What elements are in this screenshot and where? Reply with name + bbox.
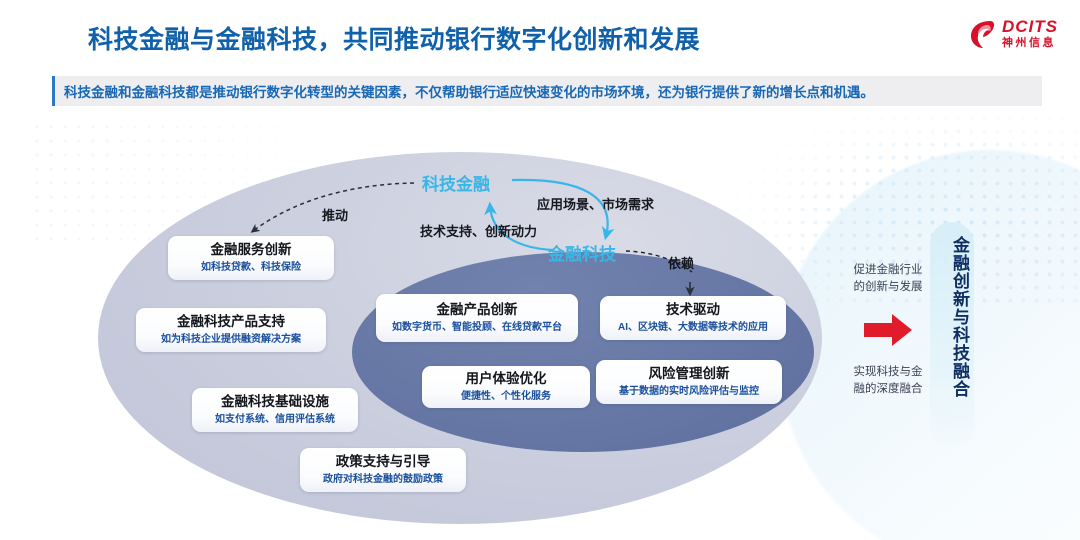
card-title: 金融科技基础设施 [221, 394, 329, 411]
card-title: 政策支持与引导 [336, 454, 431, 471]
connector-label-scene-demand: 应用场景、市场需求 [537, 194, 654, 213]
card-user-experience-optimization[interactable]: 用户体验优化 便捷性、个性化服务 [422, 366, 590, 408]
page-title: 科技金融与金融科技，共同推动银行数字化创新和发展 [88, 20, 700, 56]
right-arrow-icon [862, 312, 914, 348]
card-subtitle: AI、区块链、大数据等技术的应用 [618, 321, 768, 334]
card-title: 金融产品创新 [437, 302, 518, 319]
card-title: 技术驱动 [666, 302, 720, 319]
card-title: 风险管理创新 [649, 366, 730, 383]
card-subtitle: 如支付系统、信用评估系统 [215, 413, 335, 426]
card-subtitle: 如数字货币、智能投顾、在线贷款平台 [392, 321, 562, 334]
card-subtitle: 如科技贷款、科技保险 [201, 261, 301, 274]
card-subtitle: 政府对科技金融的鼓励政策 [323, 473, 443, 486]
card-subtitle: 便捷性、个性化服务 [461, 390, 551, 403]
card-fintech-product-support[interactable]: 金融科技产品支持 如为科技企业提供融资解决方案 [136, 308, 326, 352]
card-financial-service-innovation[interactable]: 金融服务创新 如科技贷款、科技保险 [168, 236, 334, 280]
slide-canvas: 科技金融与金融科技，共同推动银行数字化创新和发展 DCITS 神州信息 科技金融… [0, 0, 1080, 540]
card-fintech-infrastructure[interactable]: 金融科技基础设施 如支付系统、信用评估系统 [192, 388, 358, 432]
label-keji-jinrong: 科技金融 [422, 170, 490, 195]
subtitle-band: 科技金融和金融科技都是推动银行数字化转型的关键因素，不仅帮助银行适应快速变化的市… [52, 76, 1042, 106]
card-policy-support[interactable]: 政策支持与引导 政府对科技金融的鼓励政策 [300, 448, 466, 492]
label-jinrong-keji: 金融科技 [548, 240, 616, 265]
brand-logo: DCITS 神州信息 [970, 18, 1058, 49]
subtitle-text: 科技金融和金融科技都是推动银行数字化转型的关键因素，不仅帮助银行适应快速变化的市… [55, 81, 874, 101]
right-caption-bottom: 实现科技与金 融的深度融合 [838, 364, 938, 399]
inner-ellipse-shape [352, 252, 814, 452]
card-subtitle: 如为科技企业提供融资解决方案 [161, 333, 301, 346]
card-technology-driven[interactable]: 技术驱动 AI、区块链、大数据等技术的应用 [600, 296, 786, 340]
connector-label-depend: 依赖 [668, 253, 694, 272]
slide-header: 科技金融与金融科技，共同推动银行数字化创新和发展 DCITS 神州信息 [0, 0, 1080, 66]
connector-label-tech-support: 技术支持、创新动力 [420, 221, 537, 240]
card-financial-product-innovation[interactable]: 金融产品创新 如数字货币、智能投顾、在线贷款平台 [376, 294, 578, 342]
connector-label-push: 推动 [322, 205, 348, 224]
logo-en-text: DCITS [1002, 18, 1058, 35]
dcits-swirl-icon [970, 19, 996, 49]
card-title: 用户体验优化 [466, 371, 547, 388]
card-title: 金融服务创新 [211, 242, 292, 259]
card-risk-management-innovation[interactable]: 风险管理创新 基于数据的实时风险评估与监控 [596, 360, 782, 404]
vertical-title: 金融创新与科技融合 [936, 236, 968, 398]
logo-cn-text: 神州信息 [1002, 38, 1058, 49]
card-title: 金融科技产品支持 [177, 314, 285, 331]
card-subtitle: 基于数据的实时风险评估与监控 [619, 385, 759, 398]
right-caption-top: 促进金融行业 的创新与发展 [838, 262, 938, 297]
